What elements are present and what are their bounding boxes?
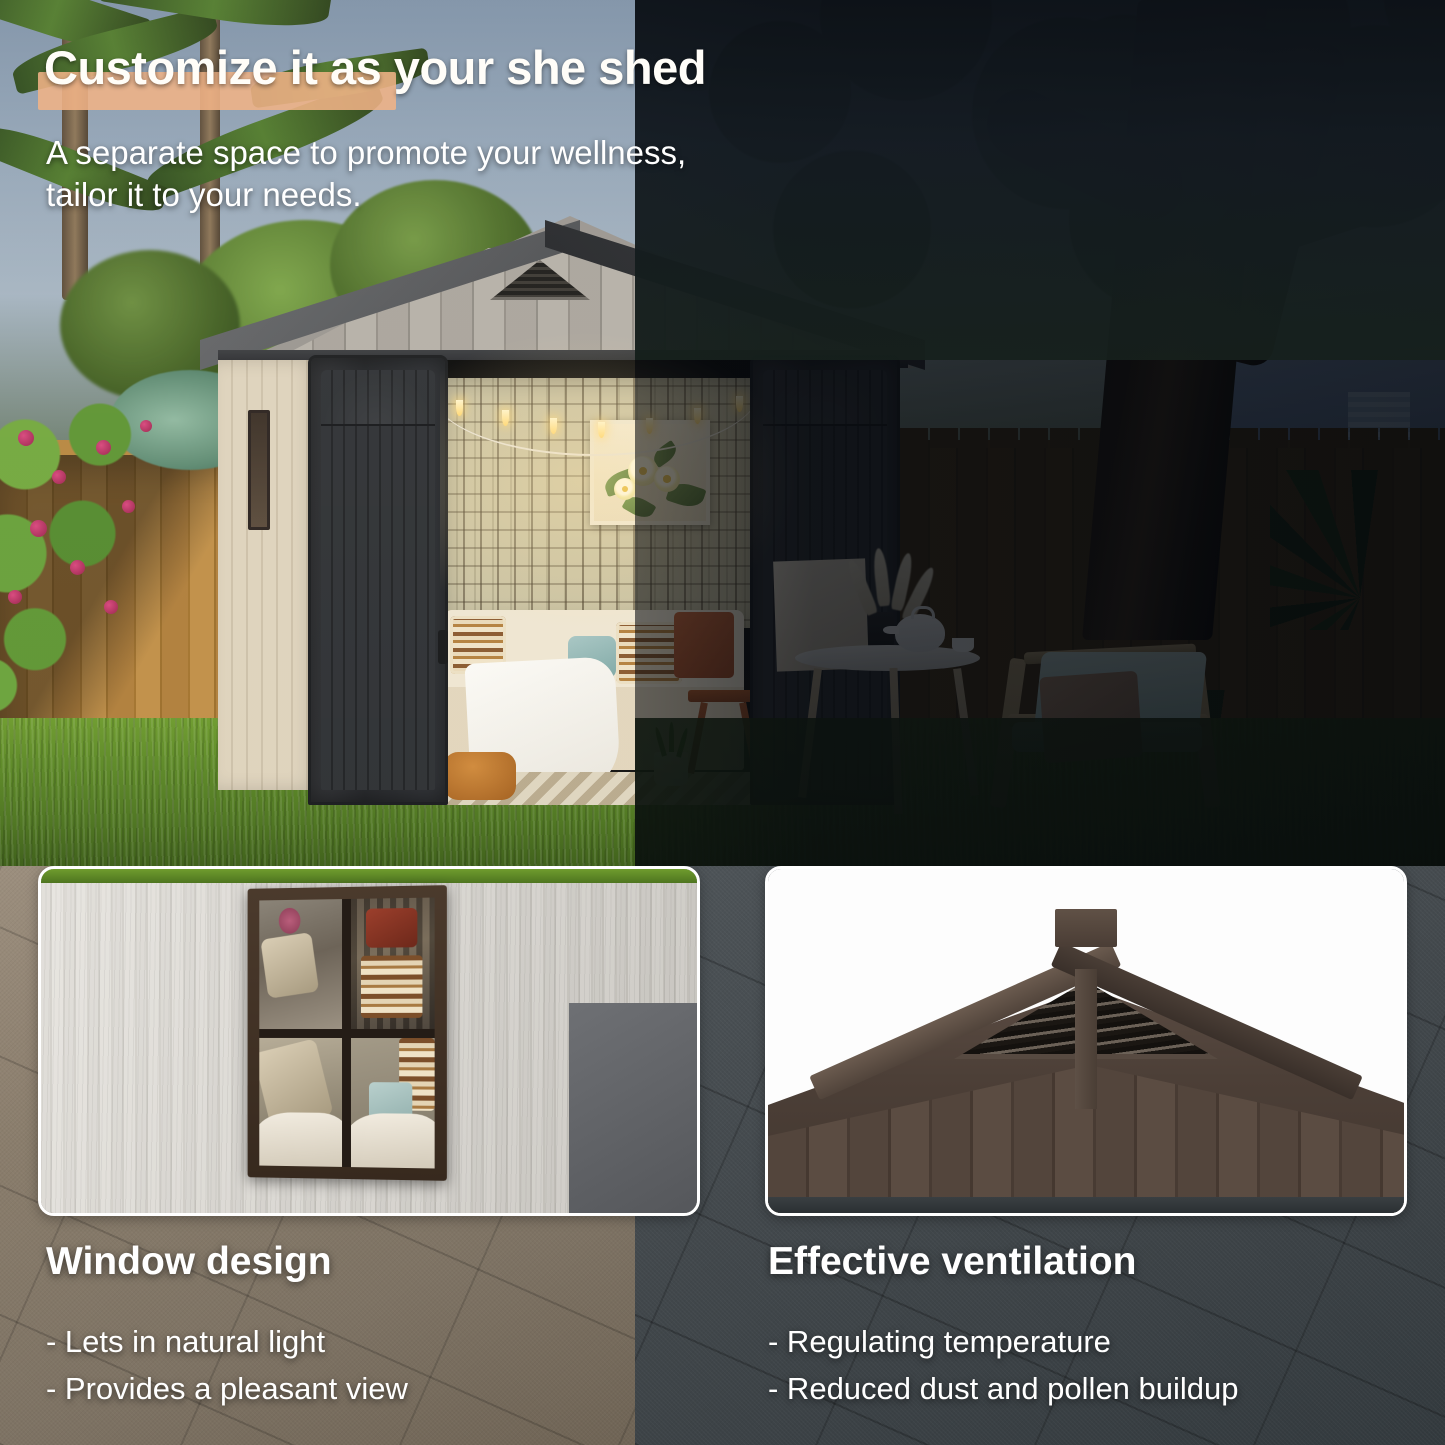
product-feature-image: Customize it as your she shed A separate… <box>0 0 1445 1445</box>
window-panes <box>259 898 434 1169</box>
feature-bullet: - Reduced dust and pollen buildup <box>768 1365 1239 1412</box>
shed-side-window <box>248 410 270 530</box>
feature-image-effective-ventilation <box>765 866 1407 1216</box>
blossom-icon <box>104 600 118 614</box>
shed-door-left[interactable] <box>308 355 448 805</box>
evening-sky-overlay <box>635 0 1445 360</box>
side-table-top <box>688 690 758 702</box>
blossom-icon <box>30 520 47 537</box>
pillow-aztec <box>616 622 682 684</box>
subtitle-line-1: A separate space to promote your wellnes… <box>46 132 686 174</box>
feature-section: Window design - Lets in natural light - … <box>0 866 1445 1445</box>
grass-strip <box>41 869 700 883</box>
feature-image-window-design <box>38 866 700 1216</box>
string-light-bulb <box>456 400 463 416</box>
blossom-icon <box>18 430 34 446</box>
teacup <box>952 638 974 652</box>
floor-pouf <box>444 752 516 800</box>
paver-corner <box>569 1003 697 1213</box>
headline-group: Customize it as your she shed <box>44 40 706 95</box>
blossom-icon <box>96 440 111 455</box>
vent-center-post <box>1075 969 1097 1109</box>
feature-bullet: - Lets in natural light <box>46 1318 408 1365</box>
feature-title: Window design <box>46 1240 408 1284</box>
door-handle-icon[interactable] <box>438 630 448 664</box>
window-frame <box>248 885 447 1181</box>
window-pane <box>350 898 434 1029</box>
subtitle-group: A separate space to promote your wellnes… <box>46 132 686 216</box>
blossom-icon <box>8 590 22 604</box>
string-light-bulb <box>694 408 701 424</box>
palm-shrub <box>1270 470 1445 630</box>
feature-bullet: - Provides a pleasant view <box>46 1365 408 1412</box>
lawn-shadowed <box>635 718 1445 866</box>
string-light-bulb <box>598 422 605 438</box>
string-light-bulb <box>502 410 509 426</box>
window-pane <box>259 899 341 1028</box>
window-pane <box>350 1038 434 1169</box>
caption-effective-ventilation: Effective ventilation - Regulating tempe… <box>768 1240 1239 1412</box>
pillow-terracotta <box>674 612 734 678</box>
subtitle-line-2: tailor it to your needs. <box>46 174 686 216</box>
string-light-bulb <box>550 418 557 434</box>
string-light-bulb <box>646 418 653 434</box>
window-pane <box>259 1037 341 1166</box>
blossom-icon <box>52 470 66 484</box>
ground-strip <box>768 1197 1407 1213</box>
hero-photo: Customize it as your she shed A separate… <box>0 0 1445 866</box>
roof-ridge-cap <box>1055 909 1117 947</box>
caption-window-design: Window design - Lets in natural light - … <box>46 1240 408 1412</box>
page-title: Customize it as your she shed <box>44 40 706 95</box>
blossom-icon <box>140 420 152 432</box>
teapot <box>895 614 945 652</box>
blossom-icon <box>122 500 135 513</box>
string-light-bulb <box>736 396 743 412</box>
feature-title: Effective ventilation <box>768 1240 1239 1284</box>
feature-bullet: - Regulating temperature <box>768 1318 1239 1365</box>
blossom-icon <box>70 560 85 575</box>
